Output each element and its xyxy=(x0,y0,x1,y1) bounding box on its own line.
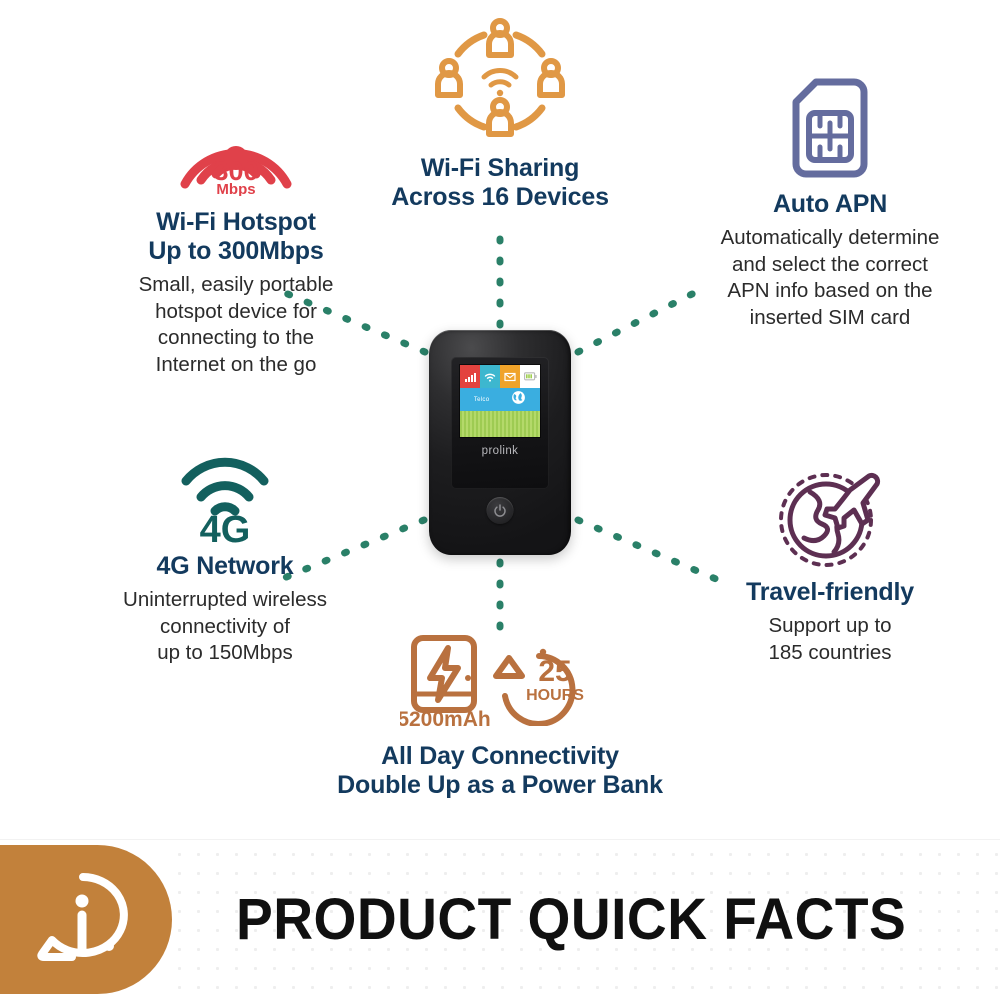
hours-value: 25 xyxy=(538,655,571,688)
4g-network-icon: 4G xyxy=(40,452,410,544)
feature-wifi-sharing: Wi-Fi Sharing Across 16 Devices xyxy=(330,18,670,212)
feature-travel-friendly: Travel-friendly Support up to 185 countr… xyxy=(660,462,1000,666)
screen-content-area xyxy=(460,411,540,437)
bottom-banner: PRODUCT QUICK FACTS xyxy=(0,845,1000,1000)
device-screen: Telco xyxy=(460,365,540,437)
hours-unit: HOURS xyxy=(526,687,584,704)
feature-description: Small, easily portable hotspot device fo… xyxy=(46,272,426,379)
device-brand-label: prolink xyxy=(451,445,549,457)
globe-airplane-icon xyxy=(660,462,1000,570)
feature-title: Travel-friendly xyxy=(660,578,1000,607)
prolink-mobile-hotspot-device: Telco prolink xyxy=(429,330,571,555)
feature-title: 4G Network xyxy=(40,552,410,581)
screen-carrier-row: Telco xyxy=(460,388,540,411)
feature-title: Wi-Fi Sharing Across 16 Devices xyxy=(330,154,670,212)
sim-card-icon xyxy=(660,78,1000,178)
info-speech-bubble-icon xyxy=(30,867,136,978)
feature-title: Wi-Fi Hotspot Up to 300Mbps xyxy=(46,208,426,266)
carrier-label: Telco xyxy=(474,397,490,403)
feature-title: All Day Connectivity Double Up as a Powe… xyxy=(300,742,700,800)
feature-power-bank: 5200mAh 25 HOURS All Day Connectivity Do… xyxy=(300,634,700,800)
feature-description: Support up to 185 countries xyxy=(660,613,1000,666)
power-button[interactable] xyxy=(487,497,514,524)
infographic-canvas: 300 Mbps Wi-Fi Hotspot Up to 300Mbps Sma… xyxy=(0,0,1000,1000)
feature-auto-apn: Auto APN Automatically determine and sel… xyxy=(660,78,1000,332)
wifi-icon xyxy=(480,365,500,388)
battery-icon xyxy=(520,365,540,388)
message-icon xyxy=(500,365,520,388)
device-front-panel: Telco prolink xyxy=(451,357,549,489)
feature-description: Automatically determine and select the c… xyxy=(660,225,1000,332)
screen-status-row xyxy=(460,365,540,388)
power-bank-battery-icon: 5200mAh 25 HOURS xyxy=(300,634,700,726)
badge-value-4g: 4G xyxy=(200,509,251,544)
battery-capacity-label: 5200mAh xyxy=(400,708,491,726)
signal-bars-icon xyxy=(460,365,480,388)
feature-title: Auto APN xyxy=(660,190,1000,219)
banner-title: PRODUCT QUICK FACTS xyxy=(236,845,906,994)
banner-divider xyxy=(0,839,1000,840)
globe-icon xyxy=(511,390,526,410)
banner-accent-shape xyxy=(0,845,172,994)
wifi-sharing-devices-icon xyxy=(330,18,670,144)
badge-unit-mbps: Mbps xyxy=(216,181,255,196)
